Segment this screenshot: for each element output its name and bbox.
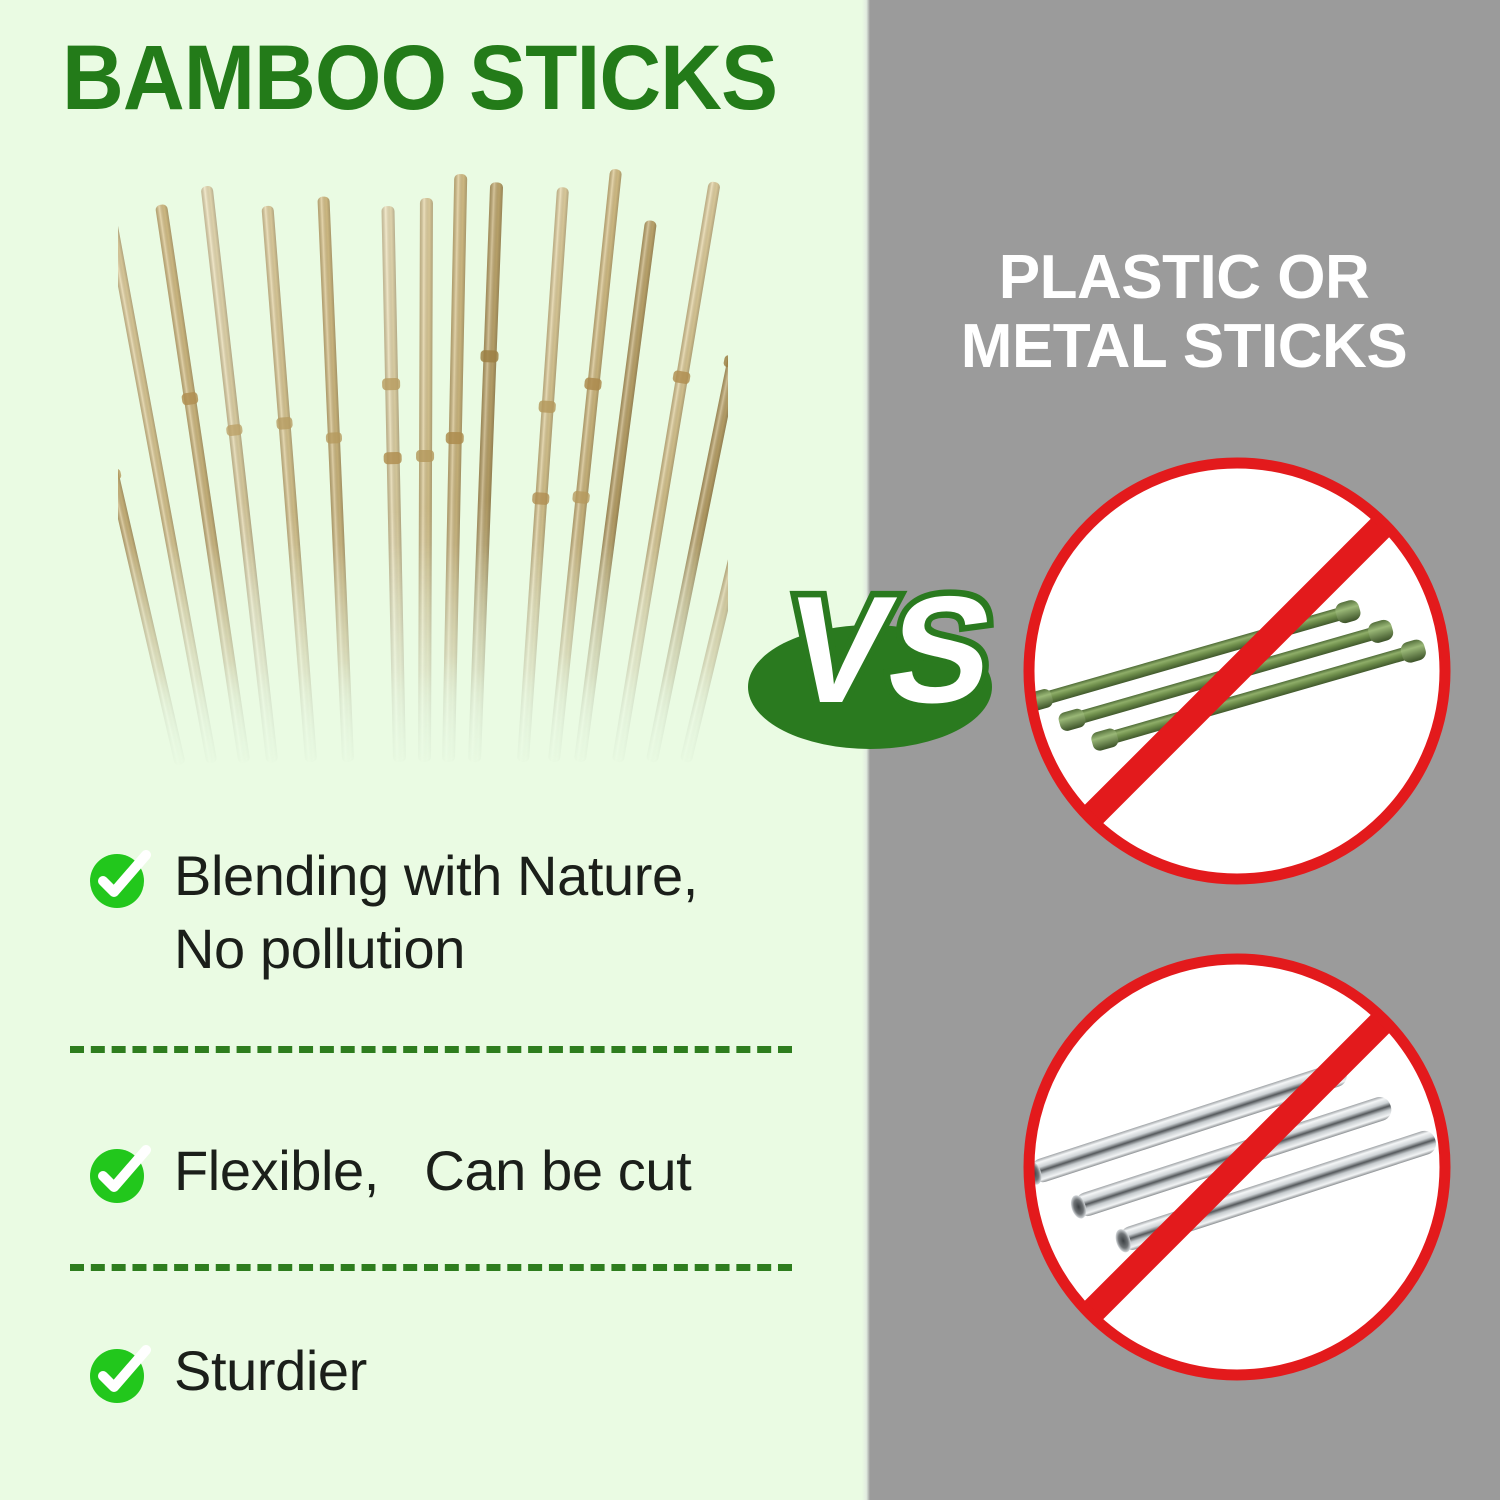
prohibition-sign-plastic-sticks [1018,452,1456,890]
versus-label: VS [775,566,998,735]
feature-item: Sturdier [86,1335,367,1408]
feature-label: Flexible, Can be cut [174,1135,691,1208]
feature-item: Flexible, Can be cut [86,1135,691,1208]
right-panel-title: PLASTIC OR METAL STICKS [868,243,1500,382]
versus-badge-icon: VS [742,552,998,757]
feature-label: Blending with Nature, No pollution [174,840,698,986]
feature-label: Sturdier [174,1335,367,1408]
check-circle-icon [86,1341,152,1407]
feature-divider [70,1046,792,1053]
right-title-line-2: METAL STICKS [868,312,1500,381]
check-circle-icon [86,846,152,912]
product-comparison-infographic: BAMBOO STICKS [0,0,1500,1500]
page-title: BAMBOO STICKS [62,32,777,124]
bamboo-sticks-image [118,160,728,780]
check-circle-icon [86,1141,152,1207]
feature-divider [70,1264,792,1271]
feature-item: Blending with Nature, No pollution [86,840,698,986]
right-title-line-1: PLASTIC OR [868,243,1500,312]
prohibition-sign-metal-sticks [1018,948,1456,1386]
